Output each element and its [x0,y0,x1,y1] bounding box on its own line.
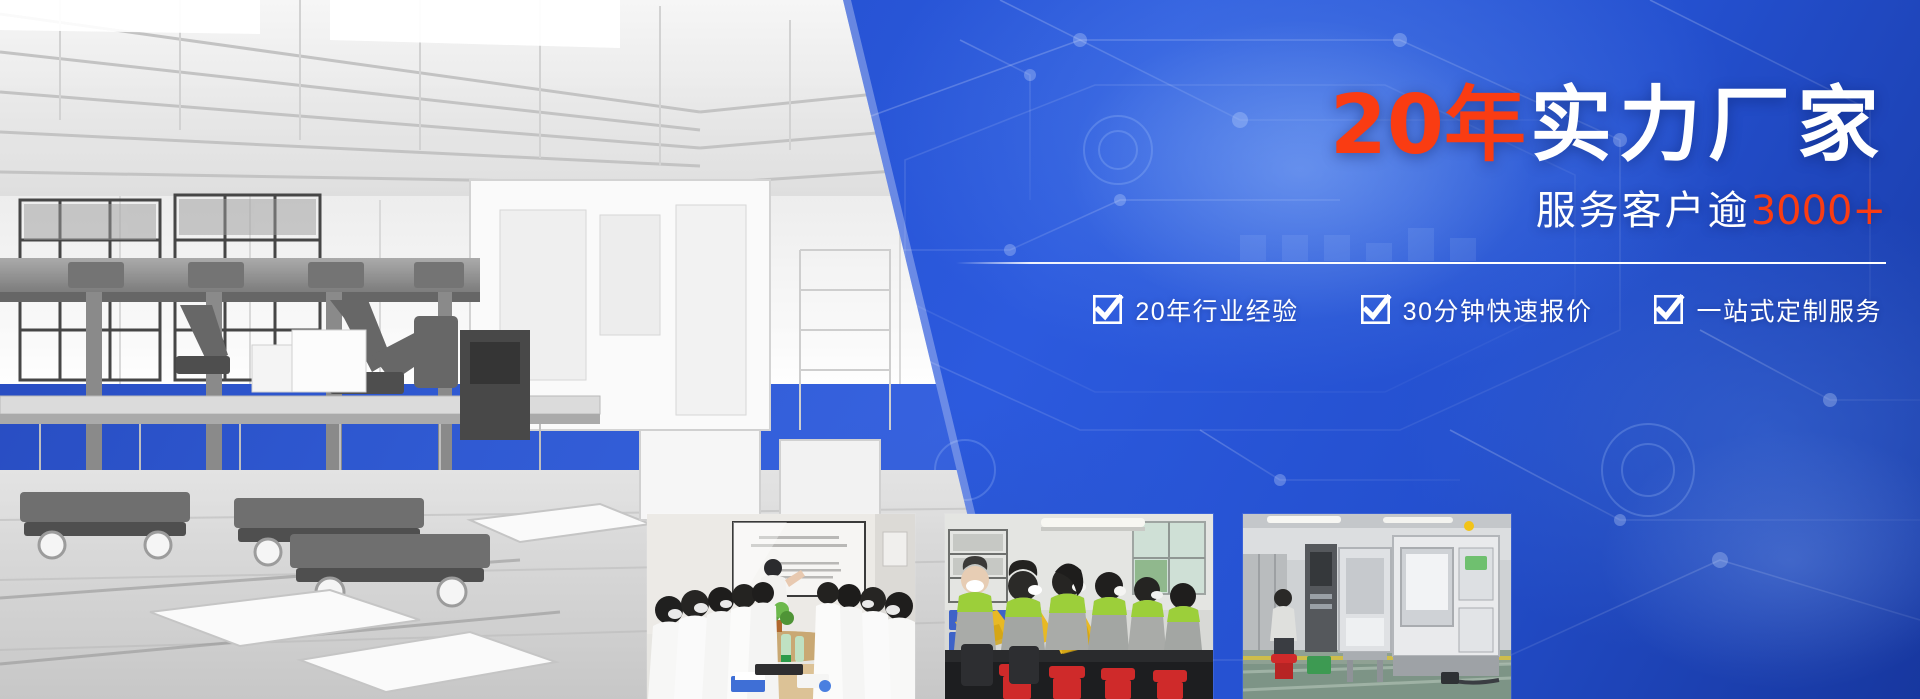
headline-rest: 实力厂家 [1530,80,1886,171]
checkmark-icon [1654,295,1683,324]
subtitle: 服务客户逾3000+ [726,178,1886,236]
checkmark-icon [1361,295,1390,324]
feature-list: 20年行业经验 30分钟快速报价 一站式定制 [726,292,1886,328]
banner-content: 20年实力厂家 服务客户逾3000+ 20年行业经验 [726,84,1886,328]
subtitle-number: 3000+ [1751,188,1886,234]
feature-label: 30分钟快速报价 [1403,292,1593,328]
feature-item-customization: 一站式定制服务 [1654,292,1882,328]
subtitle-text: 服务客户逾 [1536,189,1751,233]
assembly-line-photo[interactable] [945,514,1213,699]
divider-line [956,262,1886,264]
feature-item-experience: 20年行业经验 [1093,292,1298,328]
feature-label: 20年行业经验 [1135,292,1298,328]
feature-item-quote: 30分钟快速报价 [1361,292,1593,328]
feature-label: 一站式定制服务 [1696,292,1882,328]
page-title: 20年实力厂家 [726,84,1886,168]
headline-highlight: 20年 [1330,78,1526,173]
checkmark-icon [1093,295,1122,324]
promo-banner: 20年实力厂家 服务客户逾3000+ 20年行业经验 [0,0,1920,699]
thumbnail-strip [647,514,1511,699]
meeting-room-photo[interactable] [647,514,915,699]
cnc-workshop-photo[interactable] [1243,514,1511,699]
